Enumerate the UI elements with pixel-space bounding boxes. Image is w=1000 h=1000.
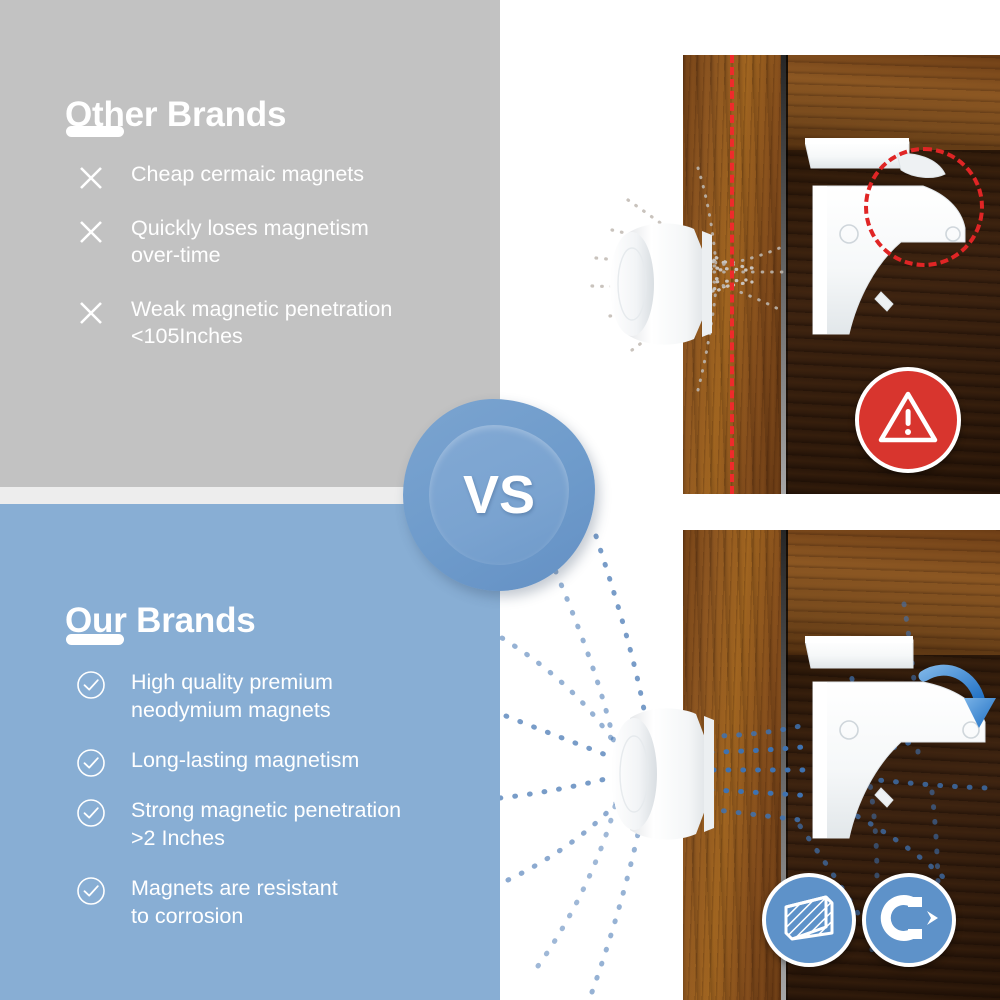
feature-label: Weak magnetic penetration <105Inches (131, 296, 392, 350)
feature-label: Cheap cermaic magnets (131, 161, 364, 188)
check-circle-icon (76, 748, 106, 778)
magnetic-key (606, 700, 718, 846)
feature-label: High quality premium neodymium magnets (131, 668, 333, 724)
list-item: Weak magnetic penetration <105Inches (0, 296, 500, 350)
magnetic-key (606, 215, 716, 351)
vs-label: VS (403, 399, 595, 591)
x-mark-icon (76, 163, 106, 193)
alignment-dashed-line (730, 55, 734, 494)
magnet-icon (878, 894, 940, 947)
list-item: High quality premium neodymium magnets (0, 668, 500, 724)
curved-arrow-icon (918, 654, 998, 744)
our-brands-demo-photo (500, 530, 1000, 1000)
x-mark-icon (76, 298, 106, 328)
list-item: Magnets are resistant to corrosion (0, 874, 500, 930)
check-circle-icon (76, 876, 106, 906)
our-brands-feature-list: High quality premium neodymium magnets L… (0, 668, 500, 952)
heading-underline-dash (66, 126, 124, 137)
comparison-infographic: Other Brands Cheap cermaic magnets Quick… (0, 0, 1000, 1000)
warning-badge (855, 367, 961, 473)
other-brands-feature-list: Cheap cermaic magnets Quickly loses magn… (0, 161, 500, 377)
list-item: Strong magnetic penetration >2 Inches (0, 796, 500, 852)
magnet-badge (862, 873, 956, 967)
list-item: Quickly loses magnetism over-time (0, 215, 500, 269)
feature-label: Magnets are resistant to corrosion (131, 874, 338, 930)
problem-highlight-circle (864, 147, 984, 267)
warning-triangle-icon (877, 389, 939, 452)
list-item: Long-lasting magnetism (0, 746, 500, 774)
check-circle-icon (76, 798, 106, 828)
vs-badge: VS (403, 399, 595, 591)
check-circle-icon (76, 670, 106, 700)
x-mark-icon (76, 217, 106, 247)
feature-label: Quickly loses magnetism over-time (131, 215, 369, 269)
cabinet-panel-badge (762, 873, 856, 967)
cabinet-panel-icon (780, 893, 838, 948)
feature-label: Long-lasting magnetism (131, 746, 359, 774)
feature-label: Strong magnetic penetration >2 Inches (131, 796, 401, 852)
heading-underline-dash (66, 634, 124, 645)
list-item: Cheap cermaic magnets (0, 161, 500, 188)
